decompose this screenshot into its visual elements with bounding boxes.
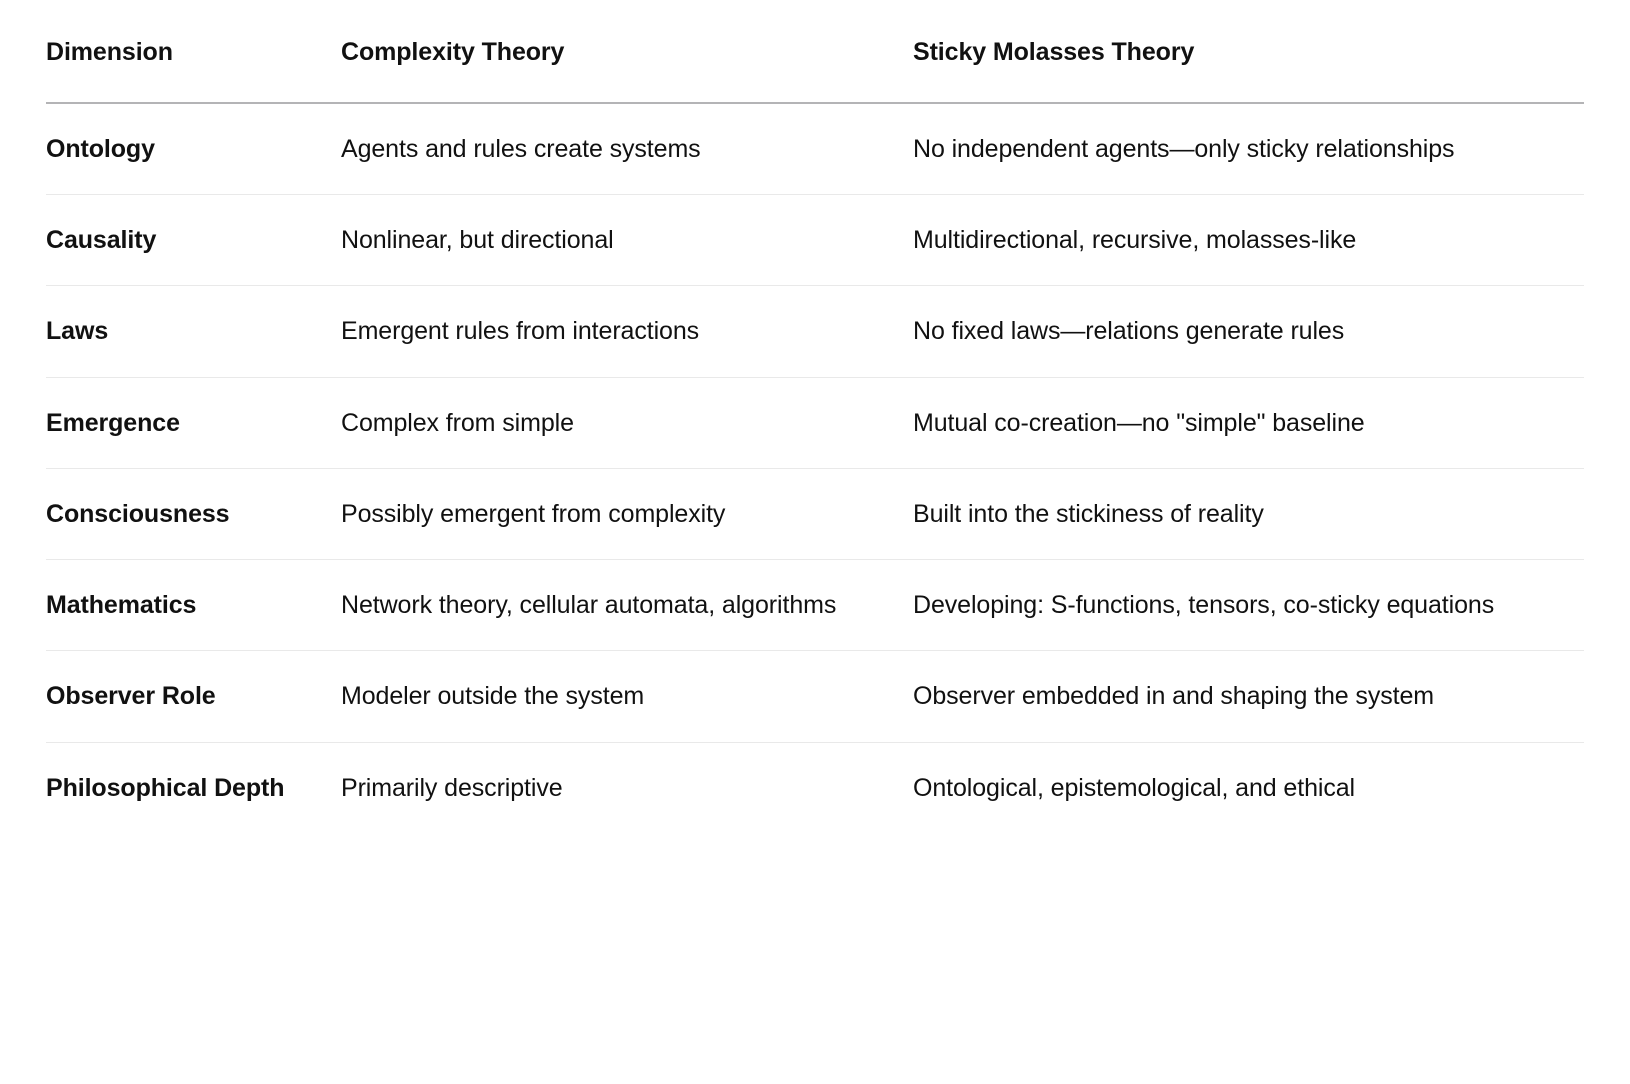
- row-sticky-molasses-theory-value: Ontological, epistemological, and ethica…: [913, 742, 1584, 833]
- comparison-table: Dimension Complexity Theory Sticky Molas…: [46, 0, 1584, 833]
- row-sticky-molasses-theory-value: Developing: S-functions, tensors, co-sti…: [913, 560, 1584, 651]
- row-sticky-molasses-theory-value: Mutual co-creation—no "simple" baseline: [913, 377, 1584, 468]
- table-row: Ontology Agents and rules create systems…: [46, 103, 1584, 195]
- row-sticky-molasses-theory-value: No independent agents—only sticky relati…: [913, 103, 1584, 195]
- table-row: Mathematics Network theory, cellular aut…: [46, 560, 1584, 651]
- column-header-dimension: Dimension: [46, 0, 341, 103]
- table-body: Ontology Agents and rules create systems…: [46, 103, 1584, 833]
- row-complexity-theory-value: Primarily descriptive: [341, 742, 913, 833]
- row-complexity-theory-value: Complex from simple: [341, 377, 913, 468]
- table-row: Emergence Complex from simple Mutual co-…: [46, 377, 1584, 468]
- table-header: Dimension Complexity Theory Sticky Molas…: [46, 0, 1584, 103]
- page-root: Dimension Complexity Theory Sticky Molas…: [0, 0, 1630, 1084]
- row-sticky-molasses-theory-value: Observer embedded in and shaping the sys…: [913, 651, 1584, 742]
- row-dimension-label: Laws: [46, 286, 341, 377]
- row-complexity-theory-value: Nonlinear, but directional: [341, 195, 913, 286]
- row-dimension-label: Causality: [46, 195, 341, 286]
- row-complexity-theory-value: Modeler outside the system: [341, 651, 913, 742]
- row-complexity-theory-value: Agents and rules create systems: [341, 103, 913, 195]
- table-row: Philosophical Depth Primarily descriptiv…: [46, 742, 1584, 833]
- row-complexity-theory-value: Emergent rules from interactions: [341, 286, 913, 377]
- table-row: Consciousness Possibly emergent from com…: [46, 468, 1584, 559]
- row-dimension-label: Mathematics: [46, 560, 341, 651]
- table-header-row: Dimension Complexity Theory Sticky Molas…: [46, 0, 1584, 103]
- table-row: Observer Role Modeler outside the system…: [46, 651, 1584, 742]
- row-sticky-molasses-theory-value: No fixed laws—relations generate rules: [913, 286, 1584, 377]
- row-complexity-theory-value: Possibly emergent from complexity: [341, 468, 913, 559]
- column-header-complexity-theory: Complexity Theory: [341, 0, 913, 103]
- row-dimension-label: Consciousness: [46, 468, 341, 559]
- column-header-sticky-molasses-theory: Sticky Molasses Theory: [913, 0, 1584, 103]
- row-dimension-label: Ontology: [46, 103, 341, 195]
- row-dimension-label: Philosophical Depth: [46, 742, 341, 833]
- row-dimension-label: Observer Role: [46, 651, 341, 742]
- row-dimension-label: Emergence: [46, 377, 341, 468]
- row-sticky-molasses-theory-value: Built into the stickiness of reality: [913, 468, 1584, 559]
- table-row: Causality Nonlinear, but directional Mul…: [46, 195, 1584, 286]
- table-row: Laws Emergent rules from interactions No…: [46, 286, 1584, 377]
- row-sticky-molasses-theory-value: Multidirectional, recursive, molasses-li…: [913, 195, 1584, 286]
- row-complexity-theory-value: Network theory, cellular automata, algor…: [341, 560, 913, 651]
